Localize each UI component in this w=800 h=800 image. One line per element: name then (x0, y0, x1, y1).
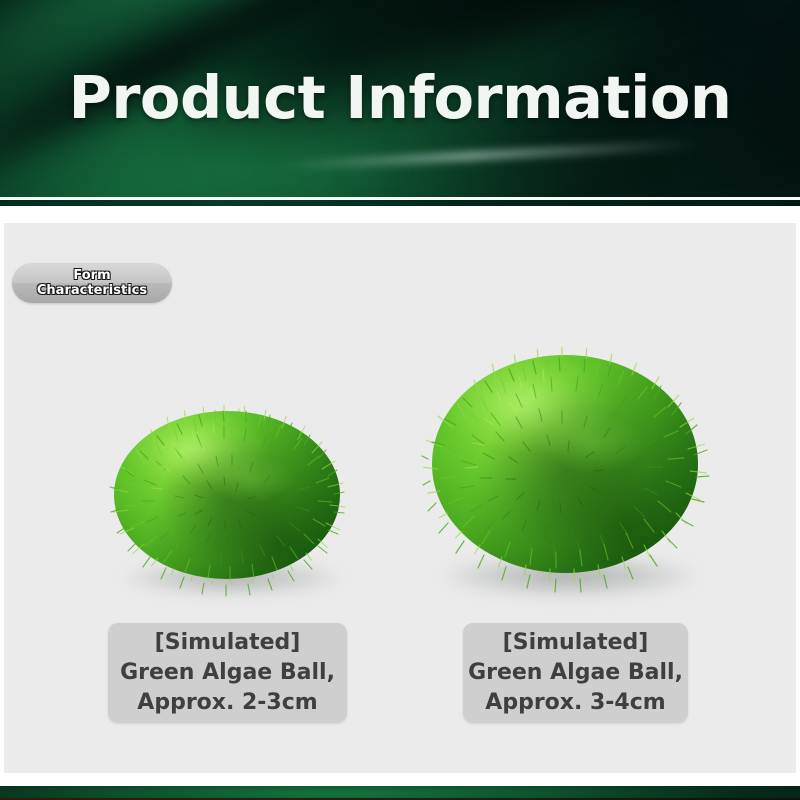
caption-small-line-3: Approx. 2-3cm (137, 688, 317, 718)
product-information-page: Product Information Form Characteristics (0, 0, 800, 800)
caption-large-line-2: Green Algae Ball, (468, 658, 683, 688)
caption-pill-small: [Simulated] Green Algae Ball, Approx. 2-… (108, 623, 347, 723)
product-figure-small (104, 393, 354, 633)
content-panel: Form Characteristics (4, 223, 796, 773)
ball-grass-texture (104, 393, 354, 633)
caption-small-line-1: [Simulated] (155, 628, 301, 658)
section-tag-line-1: Form (73, 268, 110, 283)
caption-pill-large: [Simulated] Green Algae Ball, Approx. 3-… (463, 623, 688, 723)
ball-grass-texture (422, 333, 712, 633)
footer-white-gap (0, 773, 800, 786)
algae-ball-large-group (422, 333, 712, 633)
product-figure-large (422, 333, 712, 633)
section-tag-line-2: Characteristics (37, 283, 147, 298)
caption-small-line-2: Green Algae Ball, (120, 658, 335, 688)
header-banner: Product Information (0, 0, 800, 197)
algae-ball-small-group (104, 393, 354, 633)
caption-large-line-1: [Simulated] (503, 628, 649, 658)
divider-white-lower (0, 206, 800, 223)
caption-large-line-3: Approx. 3-4cm (485, 688, 665, 718)
footer-band (0, 786, 800, 800)
page-title: Product Information (0, 60, 800, 136)
section-tag-form-characteristics: Form Characteristics (12, 263, 172, 303)
